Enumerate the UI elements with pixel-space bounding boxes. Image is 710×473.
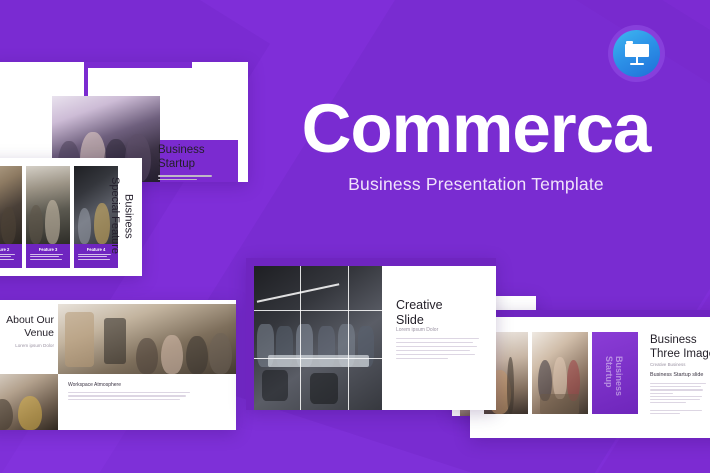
creative-title-line2: Slide	[396, 313, 443, 328]
slide-title-line2: Startup	[158, 158, 205, 172]
badge-circle	[613, 30, 660, 77]
three-title-line2: Three Image	[650, 348, 710, 362]
slide-creative: Creative Slide Lorem ipsum Dolor	[246, 258, 496, 410]
slide-business-three-image: Business Startup Business Three Image Cr…	[470, 310, 710, 438]
venue-photo-secondary	[0, 374, 58, 430]
feature-caption-lines-1	[0, 254, 18, 260]
feature-vertical-line2: Special Feature	[109, 177, 121, 254]
creative-top-bar	[246, 258, 496, 266]
feature-photo-1	[0, 166, 22, 244]
three-body-lines-2	[650, 410, 708, 416]
creative-photo-office	[254, 266, 394, 410]
venue-subtitle: Lorem ipsum Dolor	[0, 343, 54, 348]
three-body-lines-1	[650, 383, 708, 405]
venue-body-heading: Workspace Atmosphere	[68, 382, 190, 388]
page-title: Commerca	[276, 96, 676, 162]
three-body-heading: Business Startup slide	[650, 372, 703, 378]
slide-title: Business Startup	[158, 144, 205, 171]
feature-caption-lines-2	[30, 254, 66, 260]
hero-block: Commerca Business Presentation Template	[276, 96, 676, 195]
feature-photo-2	[26, 166, 70, 244]
three-top-bar	[470, 310, 710, 317]
three-photo-2	[532, 332, 588, 414]
feature-column-2: Feature 3	[26, 166, 70, 268]
venue-title: About Our Venue	[0, 314, 54, 339]
venue-title-line1: About Our	[0, 314, 54, 327]
feature-column-1: Feature 2	[0, 166, 22, 268]
venue-body-lines	[68, 392, 190, 400]
page-subtitle: Business Presentation Template	[276, 174, 676, 195]
slide-subtitle-lines	[158, 175, 212, 182]
three-title: Business Three Image	[650, 334, 710, 361]
feature-vertical-title: Business Special Feature	[106, 164, 136, 268]
slide-about-our-venue: About Our Venue Lorem ipsum Dolor Worksp…	[0, 300, 236, 430]
slide-title-line1: Business	[158, 144, 205, 158]
creative-title-line1: Creative	[396, 298, 443, 313]
feature-caption-2: Feature 3	[26, 244, 70, 268]
venue-photo-main	[58, 304, 236, 374]
venue-body: Workspace Atmosphere	[68, 382, 190, 402]
creative-title: Creative Slide	[396, 298, 443, 328]
keynote-badge[interactable]	[608, 25, 665, 82]
three-photo-3-overlay: Business Startup	[592, 332, 638, 414]
feature-label-2: Feature 3	[26, 247, 70, 252]
venue-title-line2: Venue	[0, 327, 54, 340]
creative-left-bar	[246, 258, 254, 410]
poster-canvas: Business Startup We will startup on 2022…	[0, 0, 710, 473]
feature-vertical-line1: Business	[122, 194, 134, 239]
three-subtitle: Creative Business	[650, 362, 685, 367]
three-title-line1: Business	[650, 334, 710, 348]
three-overlay-text: Business Startup	[604, 356, 624, 414]
feature-caption-1: Feature 2	[0, 244, 22, 268]
slide-special-feature: Feature 2 Feature 3	[0, 158, 142, 276]
feature-label-1: Feature 2	[0, 247, 22, 252]
creative-subtitle: Lorem ipsum Dolor	[396, 327, 438, 333]
keynote-presentation-icon	[624, 41, 650, 66]
creative-body-lines	[396, 338, 482, 362]
